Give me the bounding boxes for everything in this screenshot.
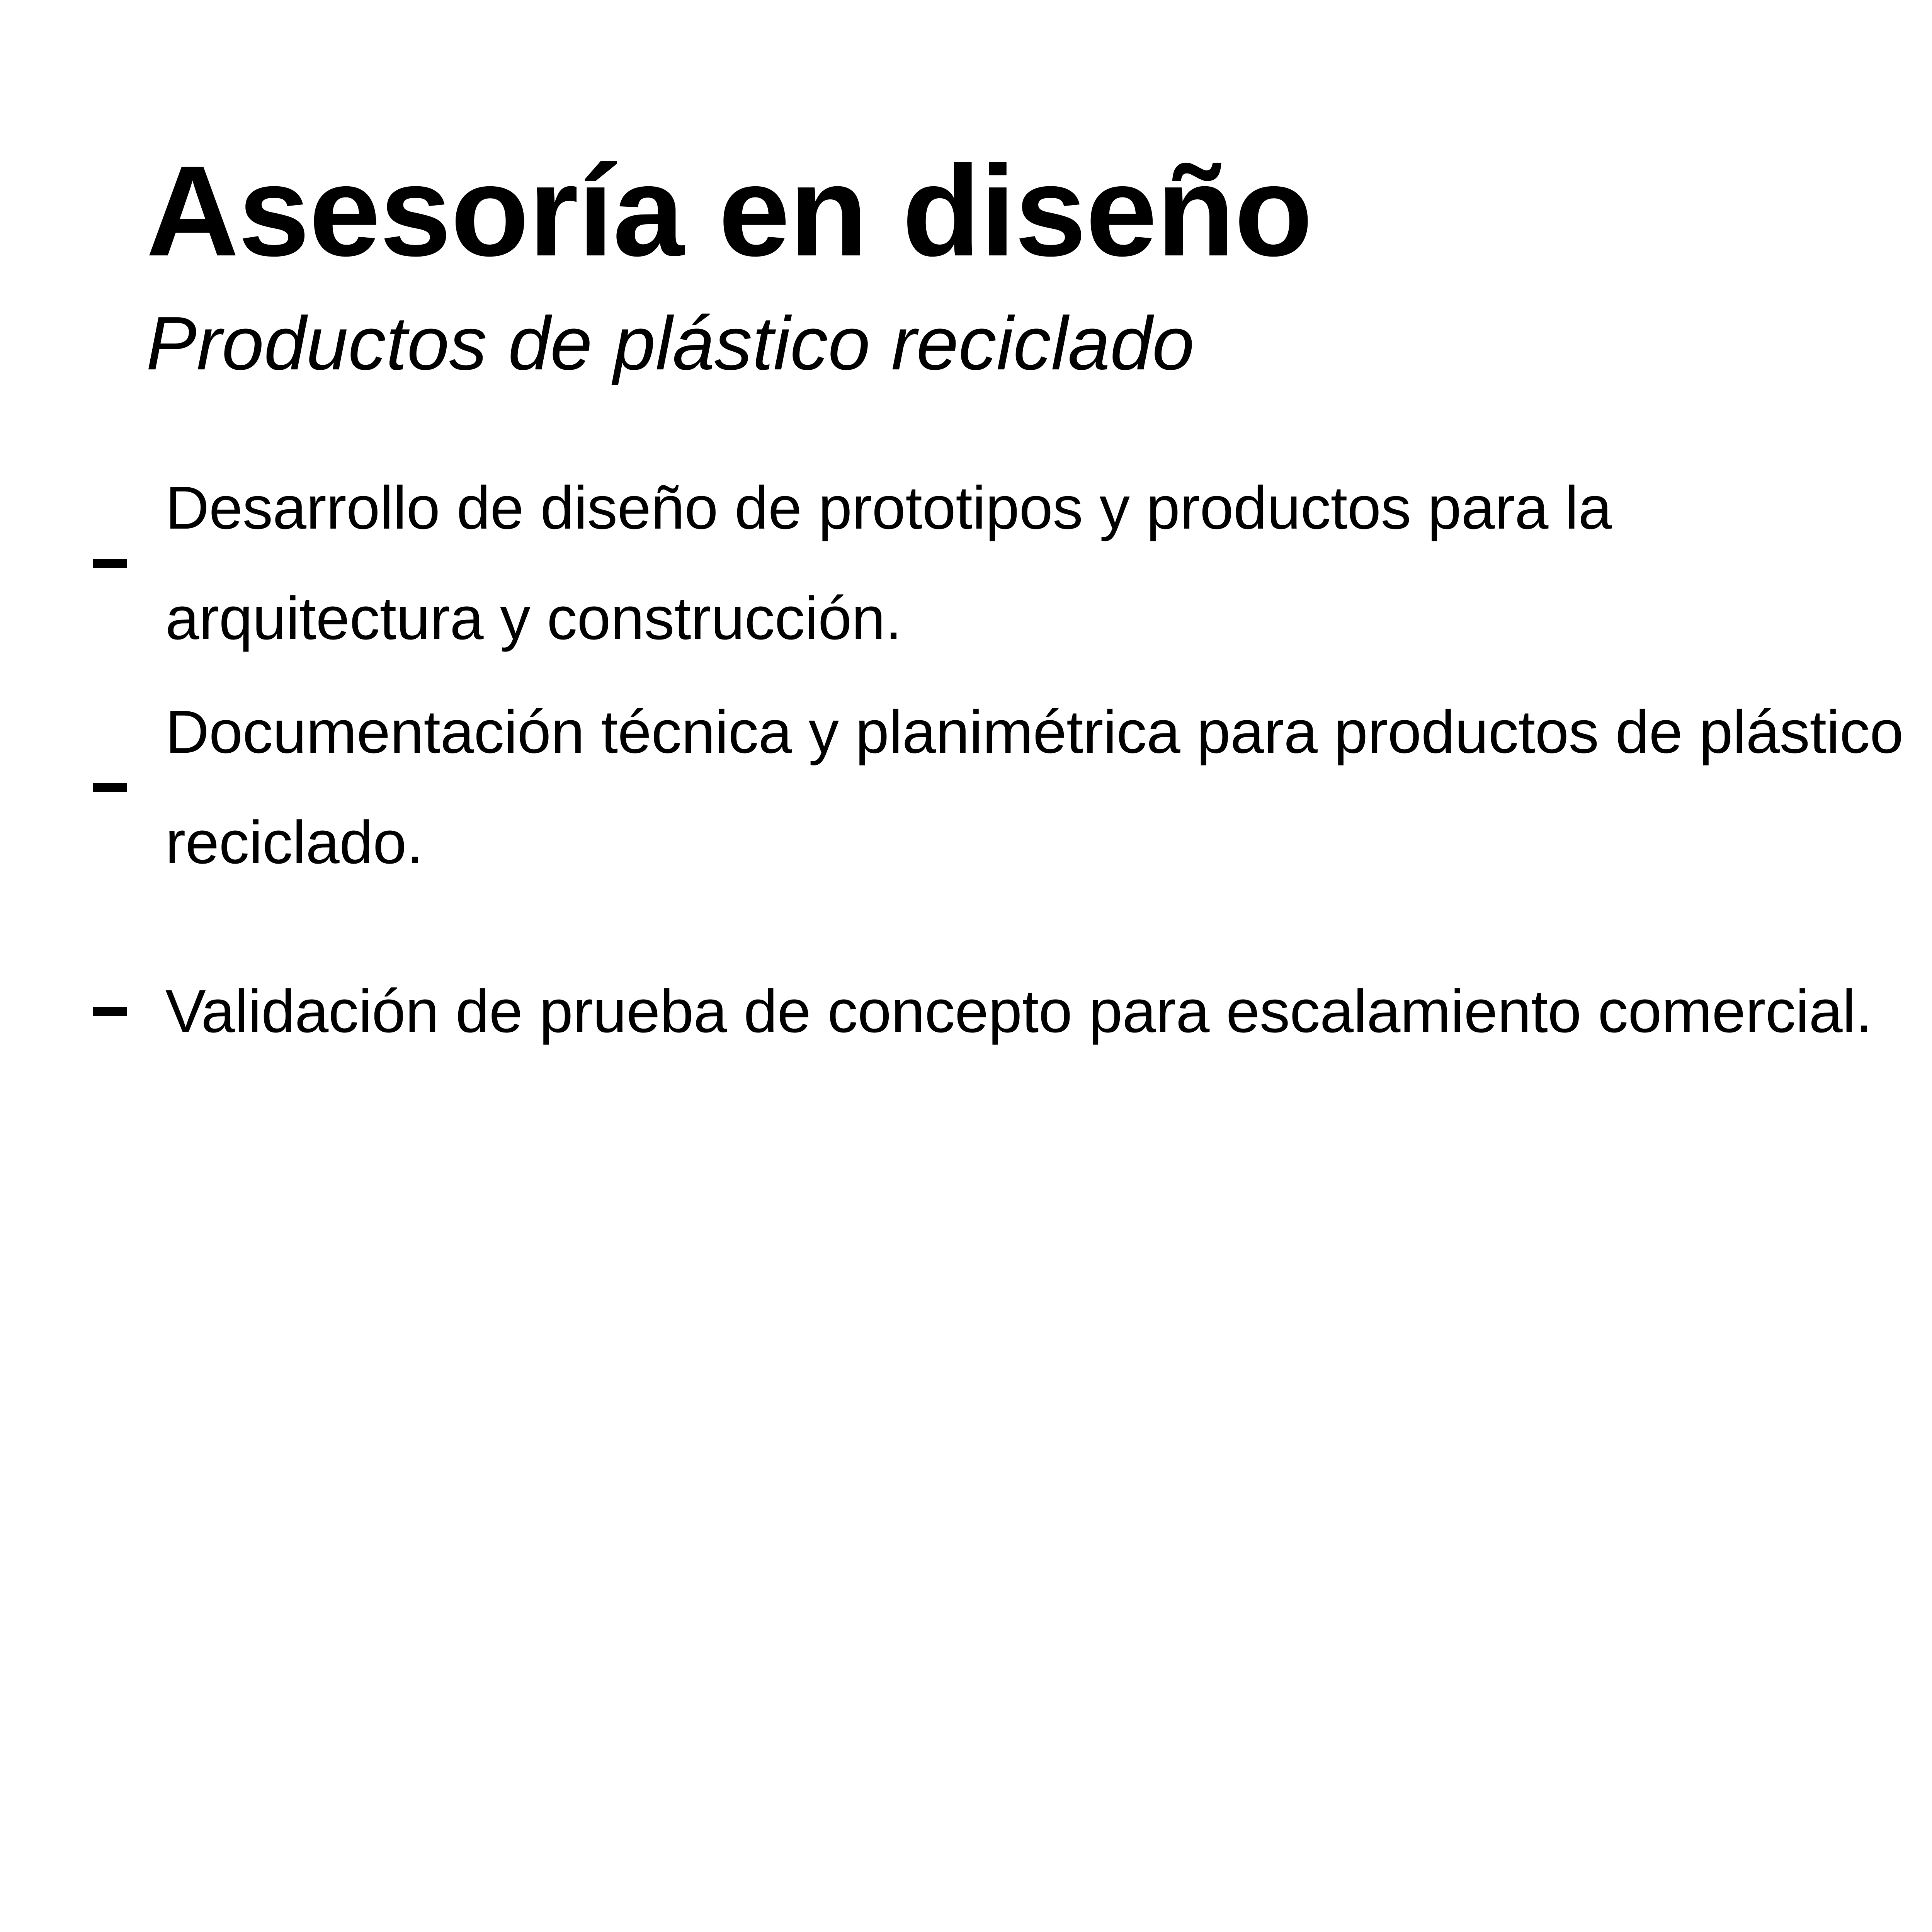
slide-canvas: Asesoría en diseño Productos de plástico… [0,0,1932,1932]
page-subtitle: Productos de plástico reciclado [146,306,1932,381]
list-item: Validación de prueba de concepto para es… [93,900,1924,1124]
dash-bullet-icon [93,1007,127,1016]
slide-header: Asesoría en diseño Productos de plástico… [146,147,1932,381]
list-item: Documentación técnica y planimétrica par… [93,675,1924,900]
bullet-list: Desarrollo de diseño de prototipos y pro… [93,451,1924,1124]
dash-bullet-icon [93,783,127,792]
list-item-label: Desarrollo de diseño de prototipos y pro… [165,453,1924,673]
list-item: Desarrollo de diseño de prototipos y pro… [93,451,1924,675]
dash-bullet-icon [93,559,127,568]
list-item-label: Documentación técnica y planimétrica par… [165,677,1924,898]
page-title: Asesoría en diseño [146,147,1932,276]
list-item-label: Validación de prueba de concepto para es… [165,956,1924,1067]
